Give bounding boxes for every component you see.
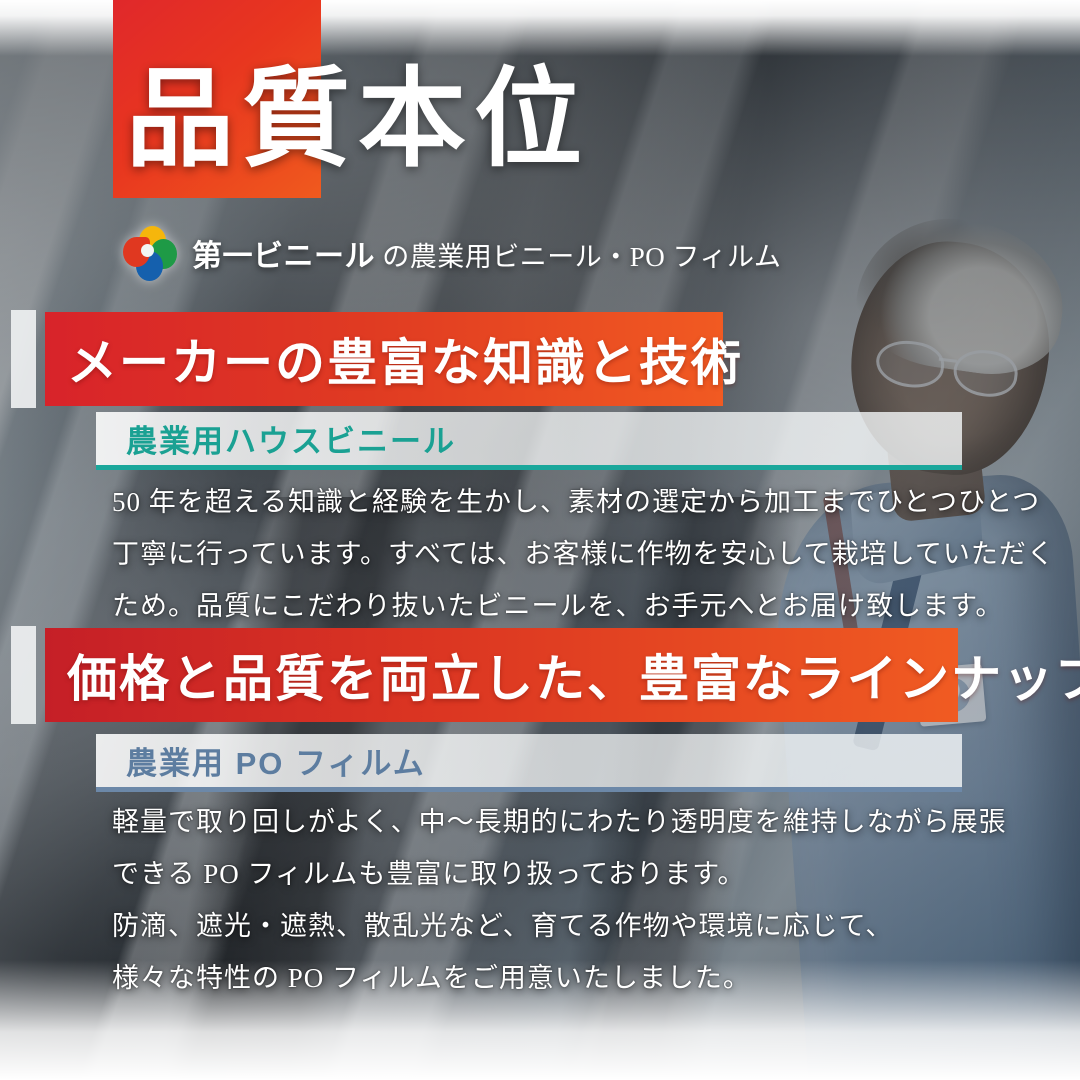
brand-name: 第一ビニール <box>192 240 375 273</box>
pinwheel-logo-icon <box>120 226 178 280</box>
promo-banner-root: 品質本位 第一ビニール の農業用ビニール・PO フィルム メーカーの豊富な知識と… <box>0 0 1080 1080</box>
section-body-2-line-1: 軽量で取り回しがよく、中〜長期的にわたり透明度を維持しながら展張 <box>112 798 992 848</box>
brand-row: 第一ビニール の農業用ビニール・PO フィルム <box>120 226 781 280</box>
section-banner-2: 価格と品質を両立した、豊富なラインナップ <box>45 628 958 722</box>
banner-accent-bar-1 <box>11 310 36 408</box>
section-banner-2-text: 価格と品質を両立した、豊富なラインナップ <box>67 639 1080 711</box>
section-body-1-line-3: ため。品質にこだわり抜いたビニールを、お手元へとお届け致します。 <box>112 582 992 632</box>
section-subheading-1: 農業用ハウスビニール <box>96 412 962 470</box>
section-banner-1-text: メーカーの豊富な知識と技術 <box>67 323 743 395</box>
section-body-2-line-2: できる PO フィルムも豊富に取り扱っております。 <box>112 850 992 900</box>
section-body-2-line-4: 様々な特性の PO フィルムをご用意いたしました。 <box>112 954 992 1004</box>
banner-accent-bar-2 <box>11 626 36 724</box>
brand-tagline: 第一ビニール の農業用ビニール・PO フィルム <box>192 231 781 275</box>
section-body-2-line-3: 防滴、遮光・遮熱、散乱光など、育てる作物や環境に応じて、 <box>112 902 992 952</box>
content-layer: 品質本位 第一ビニール の農業用ビニール・PO フィルム メーカーの豊富な知識と… <box>0 0 1080 1080</box>
section-body-1-line-2: 丁寧に行っています。すべては、お客様に作物を安心して栽培していただく <box>112 530 992 580</box>
section-body-2: 軽量で取り回しがよく、中〜長期的にわたり透明度を維持しながら展張 できる PO … <box>112 798 992 1006</box>
brand-tagline-suffix: の農業用ビニール・PO フィルム <box>375 242 781 272</box>
section-subheading-2: 農業用 PO フィルム <box>96 734 962 792</box>
section-subheading-1-text: 農業用ハウスビニール <box>126 416 456 461</box>
logo-center <box>141 244 154 257</box>
section-subheading-2-text: 農業用 PO フィルム <box>126 738 426 783</box>
section-banner-1: メーカーの豊富な知識と技術 <box>45 312 723 406</box>
section-body-1-line-1: 50 年を超える知識と経験を生かし、素材の選定から加工までひとつひとつ <box>112 478 992 528</box>
section-body-1: 50 年を超える知識と経験を生かし、素材の選定から加工までひとつひとつ 丁寧に行… <box>112 478 992 634</box>
page-title: 品質本位 <box>126 62 590 181</box>
